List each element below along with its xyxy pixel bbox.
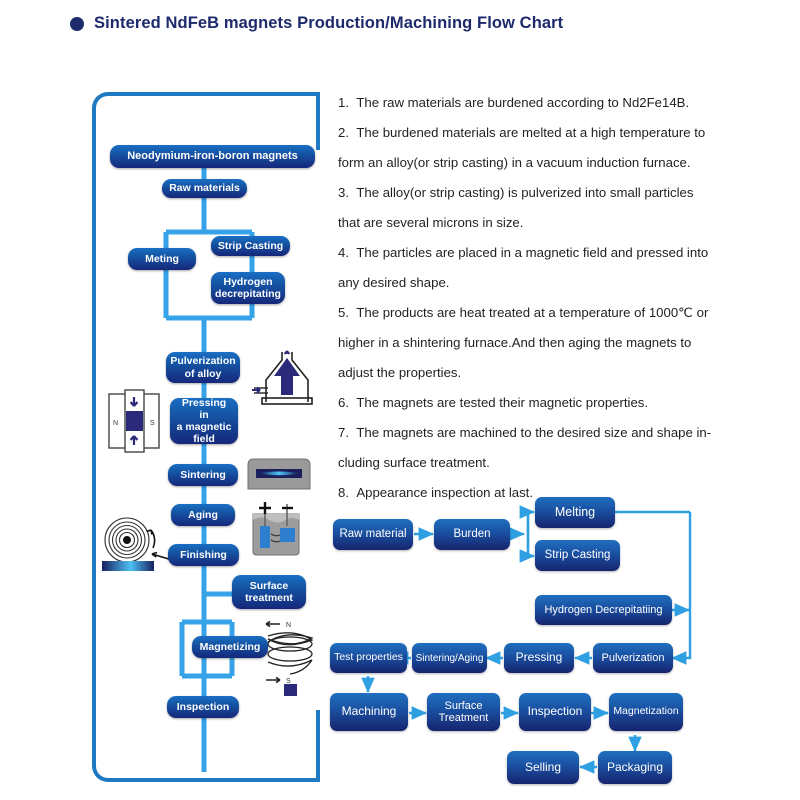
grinding-wheel-icon bbox=[96, 516, 174, 574]
step-number: 2. bbox=[338, 125, 349, 140]
node-magnetizing[interactable]: Magnetizing bbox=[192, 636, 268, 658]
step-line: 4. The particles are placed in a magneti… bbox=[338, 238, 790, 268]
step-text: The raw materials are burdened according… bbox=[356, 95, 689, 110]
node-meting[interactable]: Meting bbox=[128, 248, 196, 270]
node-hydrogen-decrepitating[interactable]: Hydrogen decrepitating bbox=[211, 272, 285, 304]
svg-text:N: N bbox=[286, 622, 291, 629]
sintering-furnace-icon bbox=[246, 457, 312, 491]
node-strip-casting[interactable]: Strip Casting bbox=[211, 236, 290, 256]
svg-text:S: S bbox=[150, 420, 155, 427]
step-line: 6. The magnets are tested their magnetic… bbox=[338, 388, 790, 418]
step-text: adjust the properties. bbox=[338, 365, 461, 380]
step-line: 1. The raw materials are burdened accord… bbox=[338, 88, 790, 118]
step-text: The particles are placed in a magnetic f… bbox=[356, 245, 708, 260]
step-text: The alloy(or strip casting) is pulverize… bbox=[356, 185, 693, 200]
bnode-pressing[interactable]: Pressing bbox=[504, 643, 574, 673]
node-raw-materials[interactable]: Raw materials bbox=[162, 179, 247, 198]
step-line: 3. The alloy(or strip casting) is pulver… bbox=[338, 178, 790, 208]
step-text: that are several microns in size. bbox=[338, 215, 523, 230]
bnode-inspection[interactable]: Inspection bbox=[519, 693, 591, 731]
svg-text:S: S bbox=[286, 678, 291, 685]
node-pulverization-of-alloy[interactable]: Pulverization of alloy bbox=[166, 352, 240, 383]
node-sintering[interactable]: Sintering bbox=[168, 464, 238, 486]
jet-mill-icon bbox=[252, 350, 318, 408]
step-text: The burdened materials are melted at a h… bbox=[356, 125, 705, 140]
step-line: 7. The magnets are machined to the desir… bbox=[338, 418, 790, 448]
step-line: form an alloy(or strip casting) in a vac… bbox=[338, 148, 790, 178]
node-inspection[interactable]: Inspection bbox=[167, 696, 239, 718]
step-number: 7. bbox=[338, 425, 349, 440]
bnode-strip-casting[interactable]: Strip Casting bbox=[535, 540, 620, 571]
node-ndfeb[interactable]: Neodymium-iron-boron magnets bbox=[110, 145, 315, 168]
step-line: 2. The burdened materials are melted at … bbox=[338, 118, 790, 148]
bnode-hydrogen-decrepitatiing[interactable]: Hydrogen Decrepitatiing bbox=[535, 595, 672, 625]
bnode-raw-material[interactable]: Raw material bbox=[333, 519, 413, 550]
step-text: The magnets are tested their magnetic pr… bbox=[356, 395, 648, 410]
svg-text:N: N bbox=[113, 420, 118, 427]
step-number: 1. bbox=[338, 95, 349, 110]
bnode-test-properties[interactable]: Test properties bbox=[330, 643, 407, 673]
bnode-melting[interactable]: Melting bbox=[535, 497, 615, 528]
bnode-selling[interactable]: Selling bbox=[507, 751, 579, 784]
magnetizing-coil-icon: N S bbox=[262, 618, 330, 696]
step-number: 6. bbox=[338, 395, 349, 410]
step-text: higher in a shintering furnace.And then … bbox=[338, 335, 691, 350]
step-text: The products are heat treated at a tempe… bbox=[356, 305, 708, 320]
bnode-burden[interactable]: Burden bbox=[434, 519, 510, 550]
process-flow-diagram: Raw material Burden Melting Strip Castin… bbox=[325, 488, 800, 800]
step-number: 3. bbox=[338, 185, 349, 200]
step-text: cluding surface treatment. bbox=[338, 455, 490, 470]
vertical-flowchart: Neodymium-iron-boron magnets Raw materia… bbox=[0, 0, 330, 800]
step-line: higher in a shintering furnace.And then … bbox=[338, 328, 790, 358]
step-line: adjust the properties. bbox=[338, 358, 790, 388]
step-text: The magnets are machined to the desired … bbox=[356, 425, 711, 440]
step-line: cluding surface treatment. bbox=[338, 448, 790, 478]
electroplating-bath-icon bbox=[243, 500, 313, 558]
bnode-pulverization[interactable]: Pulverization bbox=[593, 643, 673, 673]
node-aging[interactable]: Aging bbox=[171, 504, 235, 526]
step-text: any desired shape. bbox=[338, 275, 449, 290]
node-pressing-in-magnetic-field[interactable]: Pressing in a magnetic field bbox=[170, 398, 238, 444]
step-line: that are several microns in size. bbox=[338, 208, 790, 238]
bnode-packaging[interactable]: Packaging bbox=[598, 751, 672, 784]
bnode-surface-treatment[interactable]: Surface Treatment bbox=[427, 693, 500, 731]
node-surface-treatment[interactable]: Surface treatment bbox=[232, 575, 306, 609]
step-number: 4. bbox=[338, 245, 349, 260]
bnode-sintering-aging[interactable]: Sintering/Aging bbox=[412, 643, 487, 673]
node-finishing[interactable]: Finishing bbox=[168, 544, 239, 566]
process-steps-list: 1. The raw materials are burdened accord… bbox=[338, 88, 790, 508]
bnode-magnetization[interactable]: Magnetization bbox=[609, 693, 683, 731]
bnode-machining[interactable]: Machining bbox=[330, 693, 408, 731]
magnet-north-south-icon: N S bbox=[103, 388, 165, 454]
step-line: any desired shape. bbox=[338, 268, 790, 298]
step-line: 5. The products are heat treated at a te… bbox=[338, 298, 790, 328]
step-text: form an alloy(or strip casting) in a vac… bbox=[338, 155, 691, 170]
step-number: 5. bbox=[338, 305, 349, 320]
